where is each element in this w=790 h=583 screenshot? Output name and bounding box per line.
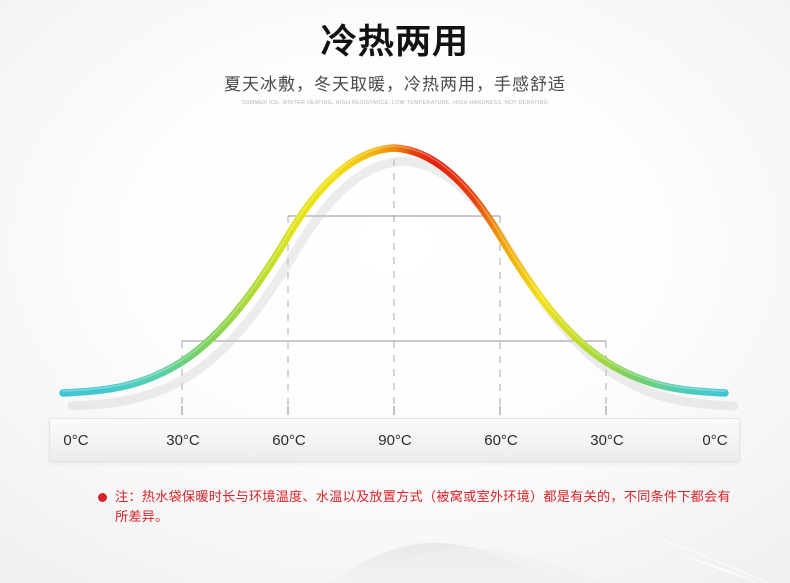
axis-label-5: 30°C — [590, 431, 624, 450]
curve-highlight — [63, 146, 725, 391]
bullet-dot-icon — [98, 493, 107, 502]
axis-label-2: 60°C — [272, 431, 306, 450]
axis-label-6: 0°C — [702, 431, 727, 450]
temperature-chart — [0, 0, 790, 470]
vertical-guide-lines — [182, 145, 606, 414]
axis-tick-marks — [182, 406, 606, 415]
footnote-text: 注：热水袋保暖时长与环境温度、水温以及放置方式（被窝或室外环境）都是有关的，不同… — [115, 488, 738, 528]
footnote: 注：热水袋保暖时长与环境温度、水温以及放置方式（被窝或室外环境）都是有关的，不同… — [98, 488, 738, 528]
axis-label-4: 60°C — [484, 431, 518, 450]
axis-label-3: 90°C — [378, 431, 412, 450]
axis-bar: 0°C 30°C 60°C 90°C 60°C 30°C 0°C — [49, 418, 740, 462]
axis-label-0: 0°C — [63, 431, 88, 450]
promo-banner: 冷热两用 夏天冰敷，冬天取暖，冷热两用，手感舒适 SUMMER ICE, WIN… — [0, 0, 790, 583]
axis-label-1: 30°C — [166, 431, 200, 450]
